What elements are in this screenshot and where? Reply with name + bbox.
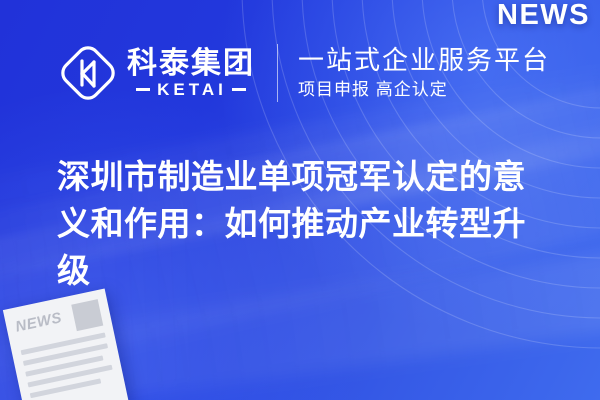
wordmark-dash-left <box>136 88 150 91</box>
ketai-diamond-monogram-icon <box>58 43 118 103</box>
brand-wordmark: 科泰集团 KETAI <box>127 48 255 99</box>
brand-name-en-row: KETAI <box>127 81 255 98</box>
slogan-main: 一站式企业服务平台 <box>298 45 550 77</box>
header-divider <box>277 44 278 102</box>
brand-name-cn: 科泰集团 <box>127 48 255 80</box>
newspaper-thumbnail <box>71 299 103 331</box>
banner-header: 科泰集团 KETAI 一站式企业服务平台 项目申报 高企认定 <box>58 40 550 106</box>
slogan-block: 一站式企业服务平台 项目申报 高企认定 <box>298 45 550 102</box>
news-banner: NEWS 科泰集团 KETAI 一站式企业服务平台 项目申报 高企认定 <box>0 0 600 400</box>
page-title: 深圳市制造业单项冠军认定的意义和作用：如何推动产业转型升级 <box>57 154 557 295</box>
slogan-sub: 项目申报 高企认定 <box>298 79 550 101</box>
newspaper-text-lines <box>21 332 115 398</box>
news-badge: NEWS <box>497 1 590 30</box>
newspaper-headline: NEWS <box>14 310 63 334</box>
brand-name-en: KETAI <box>157 81 227 98</box>
wordmark-dash-right <box>232 88 246 91</box>
